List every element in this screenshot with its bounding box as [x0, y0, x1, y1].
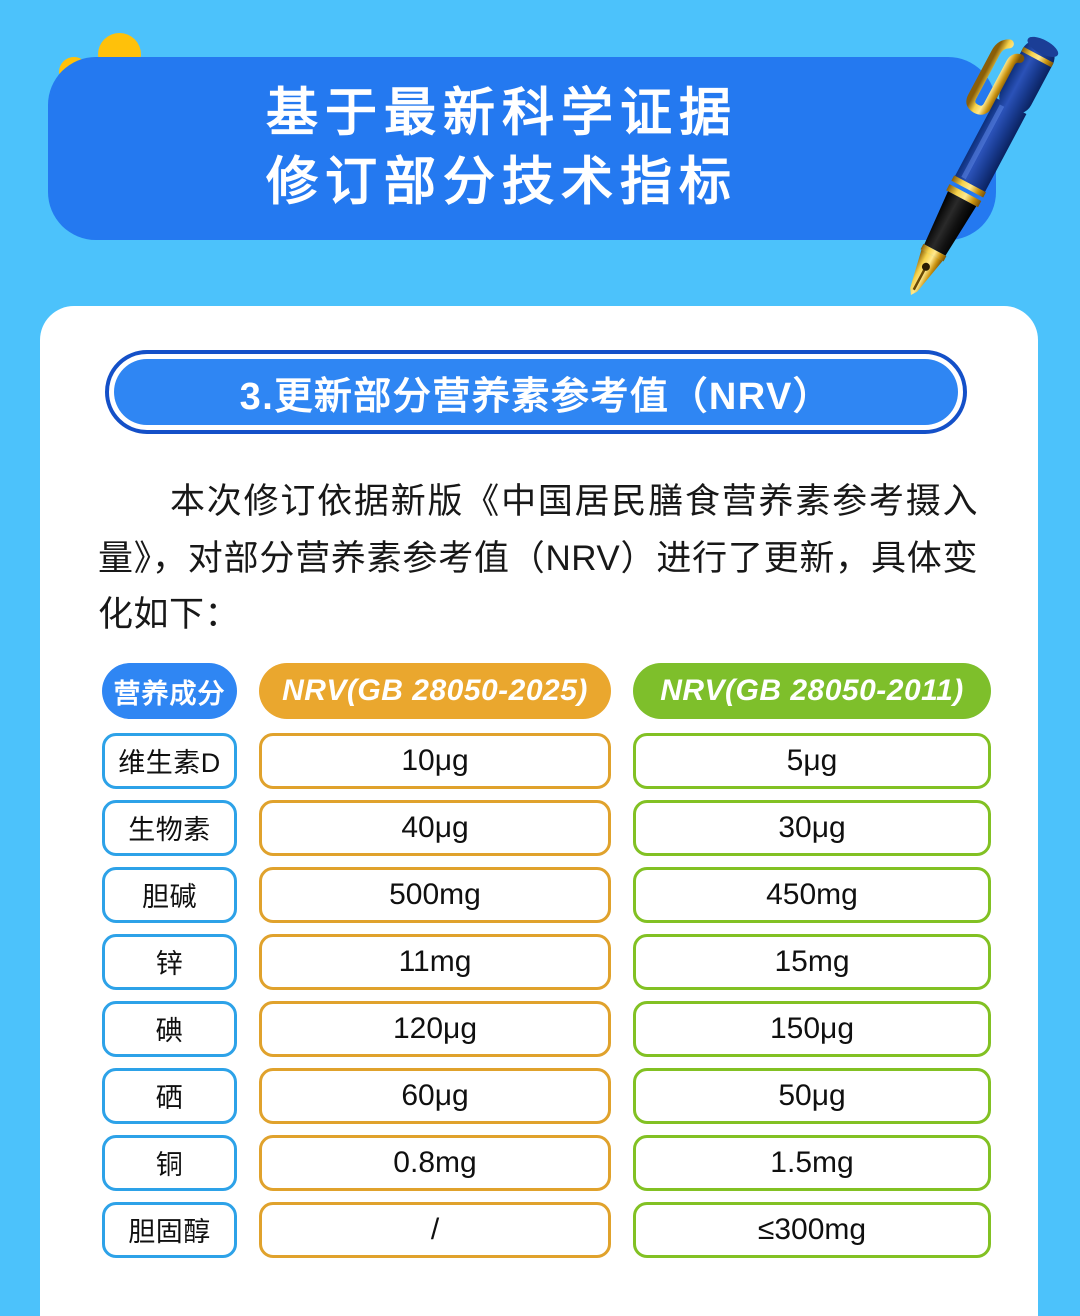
table-row: 维生素D 10μg 5μg: [102, 727, 992, 794]
banner-line-2: 修订部分技术指标: [48, 149, 956, 219]
cell-nrv-2025: 60μg: [259, 1068, 611, 1124]
cell-nrv-2025: 40μg: [259, 800, 611, 856]
cell-nrv-2025: 0.8mg: [259, 1135, 611, 1191]
content-card: 3.更新部分营养素参考值（NRV） 本次修订依据新版《中国居民膳食营养素参考摄入…: [40, 306, 1038, 1316]
header-nrv-2011: NRV(GB 28050-2011): [633, 663, 991, 719]
section-heading-inner: 3.更新部分营养素参考值（NRV）: [114, 359, 958, 425]
table-header-row: 营养成分 NRV(GB 28050-2025) NRV(GB 28050-201…: [102, 655, 992, 727]
cell-nutrient: 碘: [102, 1001, 237, 1057]
cell-nrv-2025: 500mg: [259, 867, 611, 923]
title-banner: 基于最新科学证据 修订部分技术指标: [48, 57, 996, 240]
cell-nrv-2011: 5μg: [633, 733, 991, 789]
cell-nutrient: 生物素: [102, 800, 237, 856]
cell-nrv-2025: /: [259, 1202, 611, 1258]
cell-nrv-2011: 450mg: [633, 867, 991, 923]
table-row: 胆碱 500mg 450mg: [102, 861, 992, 928]
section-heading-pill: 3.更新部分营养素参考值（NRV）: [105, 350, 967, 434]
banner-line-1: 基于最新科学证据: [48, 79, 956, 149]
table-row: 铜 0.8mg 1.5mg: [102, 1129, 992, 1196]
cell-nrv-2025: 11mg: [259, 934, 611, 990]
cell-nrv-2011: 30μg: [633, 800, 991, 856]
cell-nrv-2011: 1.5mg: [633, 1135, 991, 1191]
cell-nrv-2011: ≤300mg: [633, 1202, 991, 1258]
cell-nrv-2011: 15mg: [633, 934, 991, 990]
table-row: 硒 60μg 50μg: [102, 1062, 992, 1129]
cell-nrv-2025: 120μg: [259, 1001, 611, 1057]
table-row: 碘 120μg 150μg: [102, 995, 992, 1062]
section-paragraph: 本次修订依据新版《中国居民膳食营养素参考摄入量》，对部分营养素参考值（NRV）进…: [98, 474, 978, 644]
title-banner-text: 基于最新科学证据 修订部分技术指标: [48, 79, 996, 218]
header-nrv-2025: NRV(GB 28050-2025): [259, 663, 611, 719]
cell-nrv-2025: 10μg: [259, 733, 611, 789]
cell-nrv-2011: 50μg: [633, 1068, 991, 1124]
cell-nutrient: 胆固醇: [102, 1202, 237, 1258]
nrv-table: 营养成分 NRV(GB 28050-2025) NRV(GB 28050-201…: [102, 655, 992, 1263]
cell-nutrient: 锌: [102, 934, 237, 990]
table-row: 锌 11mg 15mg: [102, 928, 992, 995]
cell-nrv-2011: 150μg: [633, 1001, 991, 1057]
cell-nutrient: 硒: [102, 1068, 237, 1124]
cell-nutrient: 铜: [102, 1135, 237, 1191]
section-heading-text: 3.更新部分营养素参考值（NRV）: [240, 365, 833, 420]
table-row: 生物素 40μg 30μg: [102, 794, 992, 861]
cell-nutrient: 胆碱: [102, 867, 237, 923]
header-nutrient: 营养成分: [102, 663, 237, 719]
table-row: 胆固醇 / ≤300mg: [102, 1196, 992, 1263]
cell-nutrient: 维生素D: [102, 733, 237, 789]
